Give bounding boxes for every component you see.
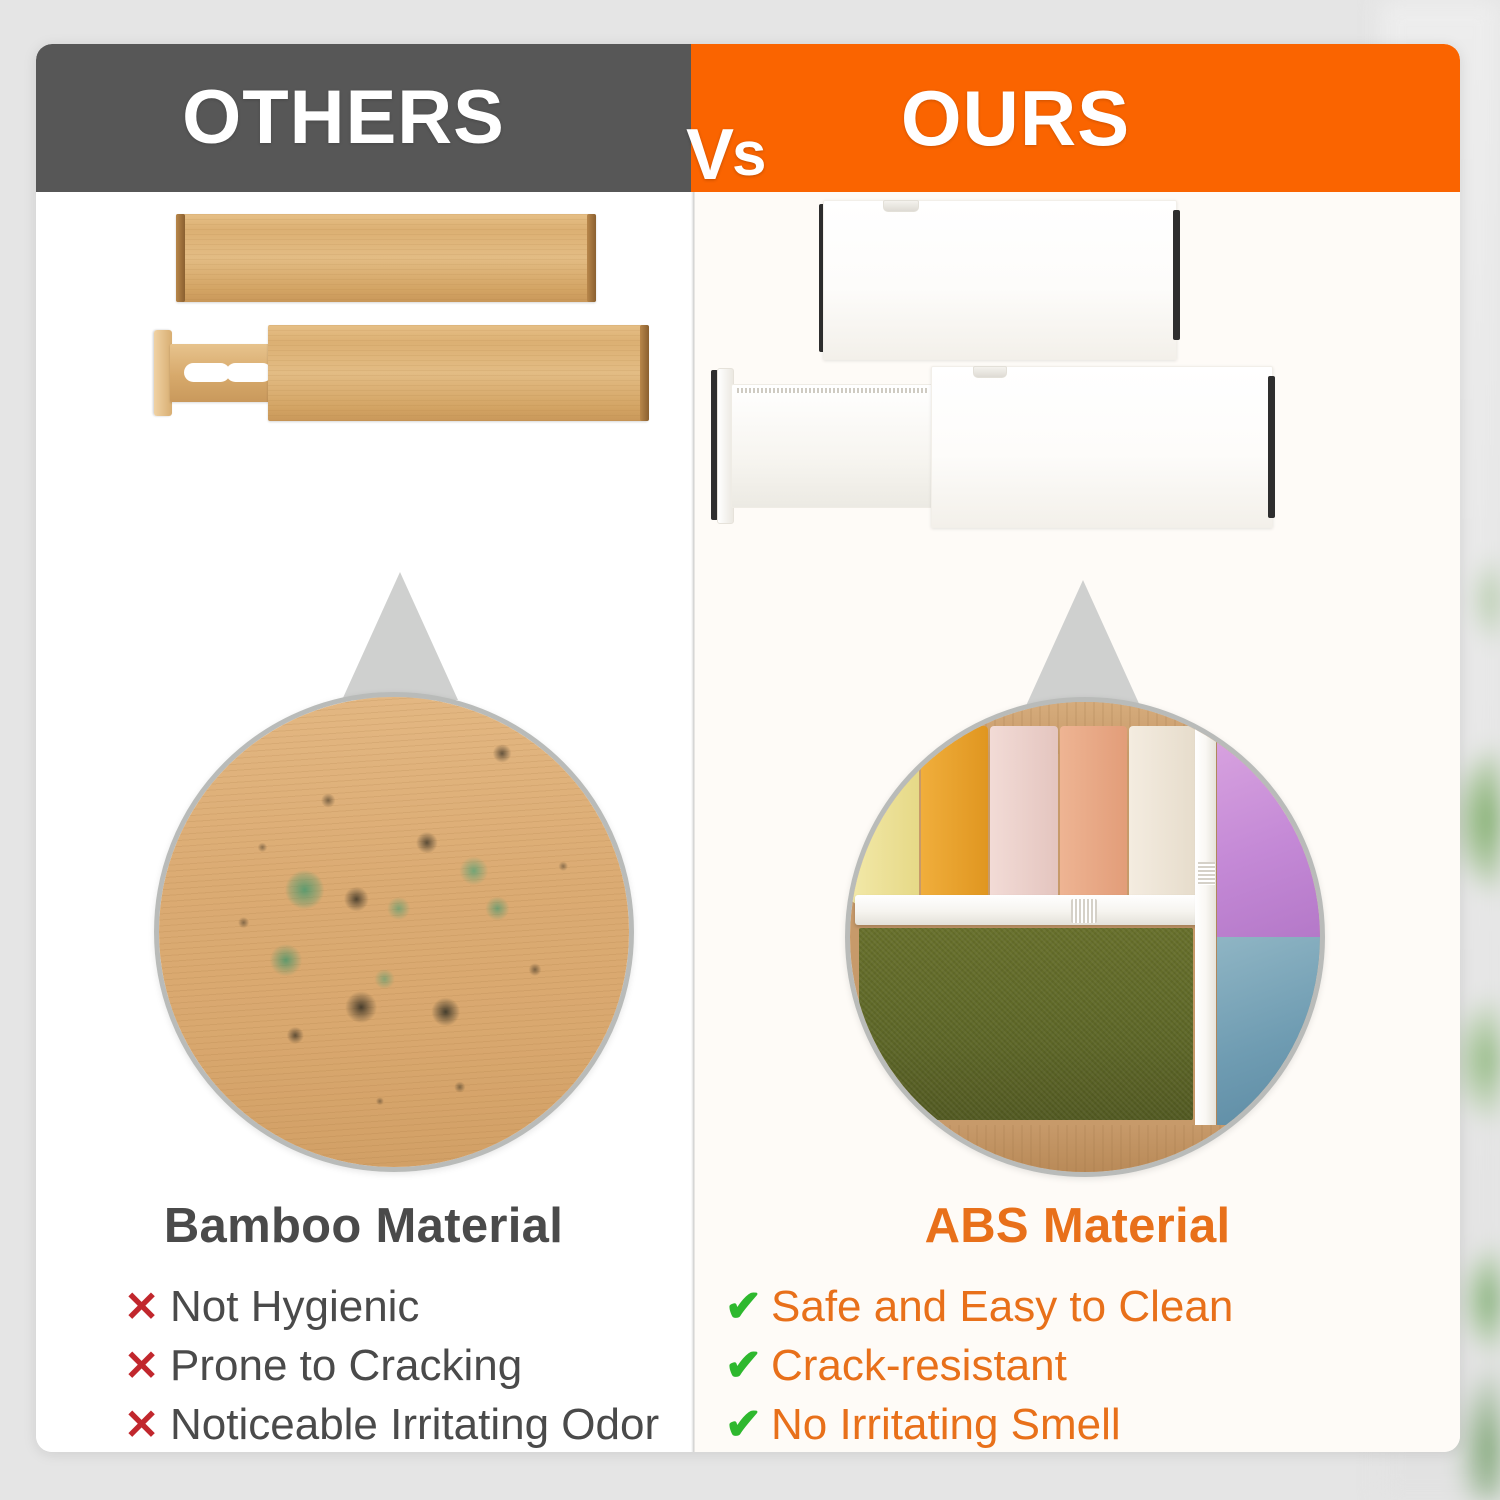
drawer-wood-bottom — [850, 1125, 1320, 1172]
rolled-cloth — [851, 726, 919, 905]
bamboo-arm-slot-left — [184, 363, 230, 382]
rolled-cloth — [1060, 726, 1128, 905]
comparison-body: Bamboo Material ✕ Not Hygienic ✕ Prone t… — [36, 192, 1460, 1452]
purple-folded-fabric — [1217, 730, 1325, 937]
comparison-card: OTHERS OURS V s — [36, 44, 1460, 1452]
abs-cap-top-right — [1173, 210, 1180, 340]
rolled-cloth — [921, 726, 989, 905]
ours-feature-text: No Irritating Smell — [771, 1396, 1121, 1452]
cross-icon: ✕ — [124, 1338, 170, 1394]
others-feature-text: Prone to Cracking — [170, 1337, 522, 1396]
abs-tab-top — [883, 200, 919, 212]
abs-divider-bottom — [931, 366, 1273, 528]
blue-folded-fabric — [1217, 937, 1325, 1125]
bamboo-product-group — [36, 192, 691, 522]
comparison-header: OTHERS OURS — [36, 44, 1460, 192]
ours-feature-item: ✔ Safe and Easy to Clean — [725, 1278, 1460, 1337]
ours-feature-list: ✔ Safe and Easy to Clean ✔ Crack-resista… — [695, 1278, 1460, 1452]
others-feature-text: Not Hygienic — [170, 1278, 419, 1337]
rolled-cloth — [990, 726, 1058, 905]
abs-cap-bottom-right — [1268, 376, 1275, 518]
abs-divider-top — [823, 200, 1177, 360]
ours-feature-text: Safe and Easy to Clean — [771, 1278, 1233, 1337]
divider-adjuster-knurl-vertical — [1198, 862, 1215, 886]
ours-feature-item: ✔ No Irritating Smell — [725, 1396, 1460, 1452]
mould-texture — [159, 697, 629, 1167]
drawer-photo — [850, 702, 1320, 1172]
drawer-divider-horizontal — [855, 895, 1198, 926]
rolled-cloth — [1129, 726, 1197, 905]
others-material-title: Bamboo Material — [36, 1200, 691, 1254]
ours-column: ABS Material ✔ Safe and Easy to Clean ✔ … — [695, 192, 1460, 1452]
others-column: Bamboo Material ✕ Not Hygienic ✕ Prone t… — [36, 192, 691, 1452]
bamboo-cap-top-right — [587, 214, 596, 302]
abs-product-group — [695, 192, 1460, 522]
header-others-title: OTHERS — [182, 80, 505, 156]
ours-label-block: ABS Material ✔ Safe and Easy to Clean ✔ … — [695, 1200, 1460, 1452]
others-pointer-triangle — [342, 572, 458, 700]
others-feature-text: Noticeable Irritating Odor — [170, 1396, 659, 1452]
bamboo-divider-bottom — [268, 325, 648, 421]
olive-folded-fabric — [859, 928, 1193, 1121]
abs-extension-rail — [731, 384, 938, 508]
abs-tab-bottom — [973, 366, 1007, 378]
bamboo-mould-closeup — [154, 692, 634, 1172]
cross-icon: ✕ — [124, 1397, 170, 1452]
drawer-divider-vertical — [1195, 726, 1216, 1130]
bamboo-cap-top-left — [176, 214, 185, 302]
others-feature-item: ✕ Not Hygienic — [124, 1278, 691, 1337]
header-ours-title: OURS — [901, 79, 1130, 157]
organised-drawer-closeup — [845, 697, 1325, 1177]
check-icon: ✔ — [725, 1337, 771, 1396]
bamboo-arm-slot-right — [226, 363, 272, 382]
ours-material-title: ABS Material — [695, 1200, 1460, 1254]
bamboo-cap-bottom-right — [640, 325, 649, 421]
abs-rail-teeth — [737, 388, 927, 393]
ours-pointer-triangle — [1025, 580, 1141, 708]
check-icon: ✔ — [725, 1278, 771, 1337]
rolled-clothes-row — [850, 726, 1198, 905]
others-label-block: Bamboo Material ✕ Not Hygienic ✕ Prone t… — [36, 1200, 691, 1452]
others-feature-item: ✕ Noticeable Irritating Odor — [124, 1396, 691, 1452]
header-ours-band: OURS — [691, 44, 1460, 192]
ours-feature-text: Crack-resistant — [771, 1337, 1067, 1396]
others-feature-list: ✕ Not Hygienic ✕ Prone to Cracking ✕ Not… — [36, 1278, 691, 1452]
ours-feature-item: ✔ Crack-resistant — [725, 1337, 1460, 1396]
others-feature-item: ✕ Prone to Cracking — [124, 1337, 691, 1396]
bamboo-divider-top — [176, 214, 596, 302]
header-others-band: OTHERS — [36, 44, 691, 192]
check-icon: ✔ — [725, 1396, 771, 1452]
divider-adjuster-knurl — [1071, 899, 1097, 923]
cross-icon: ✕ — [124, 1279, 170, 1335]
